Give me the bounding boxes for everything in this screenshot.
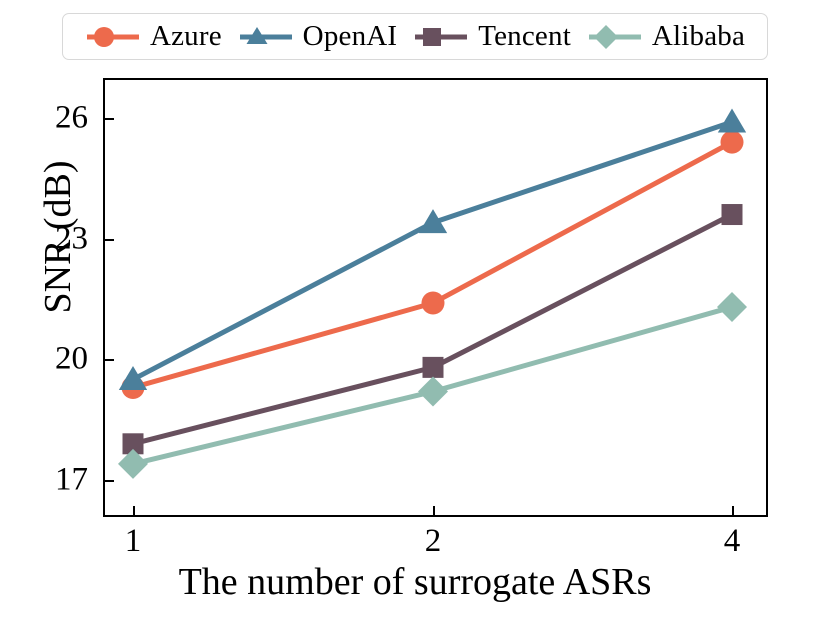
- xtick-mark-2: [433, 506, 435, 517]
- legend-label-alibaba: Alibaba: [652, 22, 745, 51]
- openai-series-icon: [238, 24, 294, 50]
- ytick-mark-26: [103, 118, 114, 120]
- legend-label-azure: Azure: [150, 22, 222, 51]
- ytick-mark-17: [103, 480, 114, 482]
- alibaba-series-icon: [587, 24, 643, 50]
- tencent-series-icon: [413, 24, 469, 50]
- xtick-mark-1: [133, 506, 135, 517]
- ytick-mark-20: [103, 359, 114, 361]
- ytick-label-17: 17: [28, 464, 88, 497]
- chart-legend: Azure OpenAI Tencent: [62, 13, 768, 60]
- azure-series-icon: [85, 24, 141, 50]
- legend-item-alibaba[interactable]: Alibaba: [587, 14, 745, 59]
- legend-item-azure[interactable]: Azure: [85, 14, 222, 59]
- chart-figure: Azure OpenAI Tencent: [0, 0, 830, 626]
- legend-item-openai[interactable]: OpenAI: [238, 14, 398, 59]
- plot-area: [103, 78, 768, 517]
- y-axis-label: SNR (dB): [39, 37, 77, 437]
- legend-label-tencent: Tencent: [478, 22, 571, 51]
- x-axis-label: The number of surrogate ASRs: [0, 563, 830, 601]
- legend-item-tencent[interactable]: Tencent: [413, 14, 571, 59]
- xtick-label-4: 4: [702, 525, 762, 558]
- legend-label-openai: OpenAI: [303, 22, 398, 51]
- xtick-mark-4: [732, 506, 734, 517]
- ytick-mark-23: [103, 239, 114, 241]
- xtick-label-2: 2: [403, 525, 463, 558]
- xtick-label-1: 1: [103, 525, 163, 558]
